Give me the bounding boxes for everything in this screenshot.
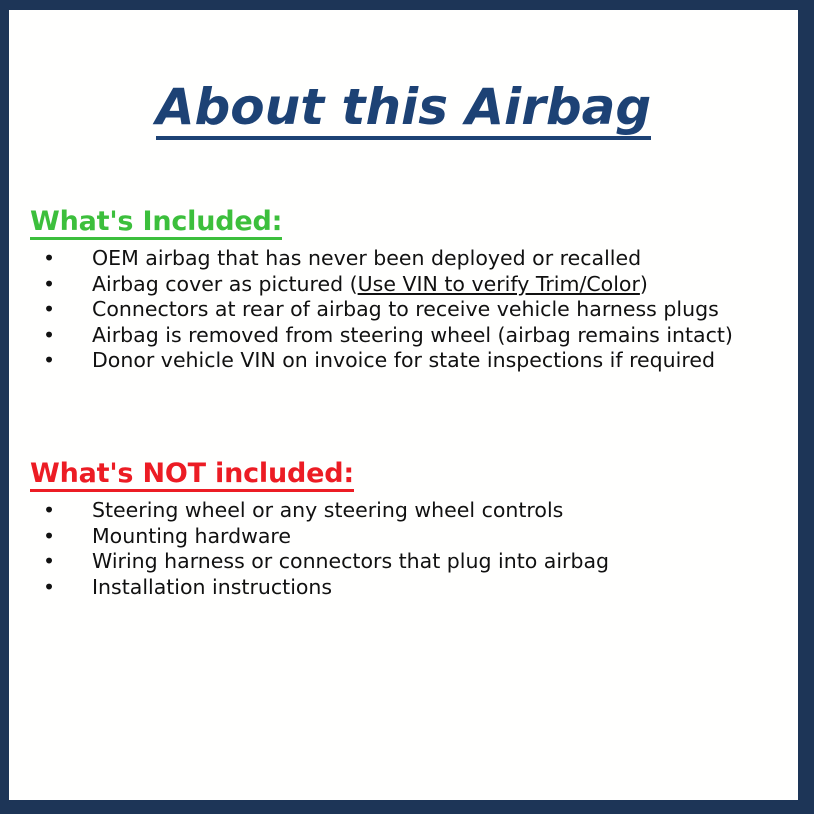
list-item-text: Connectors at rear of airbag to receive … [92,297,719,321]
list-item-text: Mounting hardware [92,524,291,548]
section-heading-included: What's Included: [30,208,282,240]
page-title: About this Airbag [156,82,651,140]
list-item-text: Wiring harness or connectors that plug i… [92,549,609,573]
list-item-text: Installation instructions [92,575,332,599]
section-heading-not-included: What's NOT included: [30,460,354,492]
list-item: • OEM airbag that has never been deploye… [30,246,788,271]
included-list: • OEM airbag that has never been deploye… [30,246,788,373]
bullet-icon: • [43,348,55,373]
bullet-icon: • [43,549,55,574]
list-item: • Donor vehicle VIN on invoice for state… [30,348,788,373]
section-included: What's Included: • OEM airbag that has n… [30,208,788,373]
list-item: • Airbag is removed from steering wheel … [30,323,788,348]
bullet-icon: • [43,498,55,523]
list-item-text: OEM airbag that has never been deployed … [92,246,641,270]
bullet-icon: • [43,246,55,271]
bullet-icon: • [43,272,55,297]
section-not-included: What's NOT included: • Steering wheel or… [30,460,788,600]
list-item: • Airbag cover as pictured (Use VIN to v… [30,272,788,297]
list-item-text-underlined: Use VIN to verify Trim/Color [358,272,640,296]
list-item-text-suffix: ) [640,272,648,296]
list-item: • Mounting hardware [30,524,788,549]
info-card: About this Airbag What's Included: • OEM… [0,0,814,814]
page-title-container: About this Airbag [9,82,798,140]
list-item-text: Steering wheel or any steering wheel con… [92,498,563,522]
list-item: • Installation instructions [30,575,788,600]
list-item: • Connectors at rear of airbag to receiv… [30,297,788,322]
bullet-icon: • [43,575,55,600]
list-item-text-prefix: Airbag cover as pictured ( [92,272,358,296]
not-included-list: • Steering wheel or any steering wheel c… [30,498,788,600]
card-inner: About this Airbag What's Included: • OEM… [9,10,798,800]
list-item-text: Airbag is removed from steering wheel (a… [92,323,733,347]
bullet-icon: • [43,297,55,322]
list-item: • Wiring harness or connectors that plug… [30,549,788,574]
list-item: • Steering wheel or any steering wheel c… [30,498,788,523]
bullet-icon: • [43,323,55,348]
bullet-icon: • [43,524,55,549]
list-item-text: Donor vehicle VIN on invoice for state i… [92,348,715,372]
